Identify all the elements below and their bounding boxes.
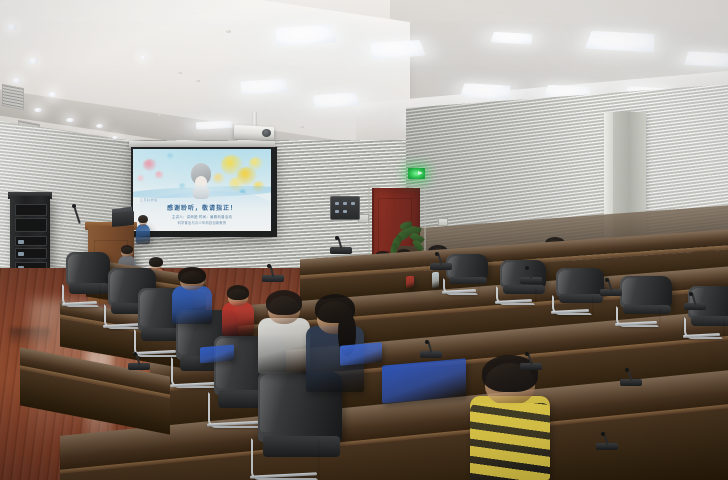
table-microphone-8 <box>520 352 546 370</box>
table-microphone-6 <box>262 264 288 282</box>
ceiling-panel-light <box>460 83 510 99</box>
screen-glare <box>133 149 271 231</box>
chair-highlight <box>558 270 580 294</box>
table-microphone-2 <box>430 252 456 270</box>
chair-highlight <box>140 290 164 326</box>
table-microphone-10 <box>128 352 154 370</box>
chair-right-2[interactable] <box>556 268 604 312</box>
blue-document-tray <box>200 345 234 364</box>
person-attendee-white-shirt-man <box>258 288 310 374</box>
control-led <box>343 202 347 205</box>
control-led <box>343 210 347 213</box>
ceiling-downlight <box>12 78 21 83</box>
blue-folder-large <box>382 358 466 403</box>
microphone-icon <box>425 340 429 344</box>
rack-indicator <box>18 240 24 244</box>
table-microphone-3 <box>520 266 546 284</box>
projection-screen: 江苏科学馆 感谢聆听，敬请指正！ 主讲人：讲师团 时间：暑期科普活动 科学普及与… <box>133 149 271 231</box>
table-microphone-1 <box>330 236 356 254</box>
microphone-icon <box>335 236 339 240</box>
person-attendee-red-shirt-boy <box>222 284 254 336</box>
person-hair <box>227 285 249 300</box>
person-hair <box>121 245 133 254</box>
table-microphone-5 <box>684 292 710 310</box>
ceiling-downlight <box>28 58 38 64</box>
control-led <box>351 202 355 205</box>
microphone-icon <box>605 278 609 282</box>
ceiling-smoke-detector <box>226 30 231 33</box>
control-led <box>335 210 339 213</box>
microphone-icon <box>689 292 693 296</box>
projector-mount <box>252 112 257 127</box>
chair-highlight <box>260 374 298 432</box>
person-attendee-blue-shirt <box>172 266 212 324</box>
ceiling-air-vent <box>2 84 24 110</box>
blue-folder-small <box>340 342 382 366</box>
rack-indicator <box>18 252 24 256</box>
ceiling-panel-light <box>491 32 533 45</box>
microphone-icon <box>625 368 629 372</box>
microphone-icon <box>435 252 439 256</box>
microphone-icon <box>601 432 605 436</box>
microphone-icon <box>133 352 137 356</box>
control-led <box>335 202 339 205</box>
conference-room-photo: 江苏科学馆 感谢聆听，敬请指正！ 主讲人：讲师团 时间：暑期科普活动 科学普及与… <box>0 0 728 480</box>
microphone-icon <box>267 264 271 268</box>
ceiling-downlight <box>6 24 17 30</box>
wall-socket-plate-2 <box>438 218 448 226</box>
person-shading <box>258 333 310 374</box>
microphone-icon <box>525 266 529 270</box>
striped-shirt-pattern <box>470 403 550 480</box>
person-presenter <box>136 214 150 244</box>
person-shading <box>172 296 212 324</box>
table-microphone-4 <box>600 278 626 296</box>
ceiling-downlight <box>96 124 103 128</box>
red-item <box>406 276 414 289</box>
av-control-panel[interactable] <box>330 196 360 220</box>
person-shading <box>136 230 150 244</box>
chair-highlight <box>68 254 88 283</box>
table-microphone-11 <box>596 432 622 450</box>
person-hair <box>266 290 302 315</box>
laptop <box>112 211 134 227</box>
chair-left-1[interactable] <box>66 252 110 304</box>
ceiling-downlight <box>48 92 57 97</box>
rack-unit <box>15 204 47 216</box>
podium-microphone-icon <box>72 204 76 208</box>
table-microphone-7 <box>420 340 446 358</box>
ceiling-panel-light <box>684 51 728 67</box>
rack-unit <box>15 218 47 232</box>
chair-highlight <box>110 270 132 302</box>
person-hair <box>138 215 148 224</box>
exit-sign-icon <box>408 168 425 179</box>
table-microphone-9 <box>620 368 646 386</box>
water-bottle <box>432 272 439 289</box>
person-hair <box>149 257 163 267</box>
microphone-icon <box>525 352 529 356</box>
person-shading <box>222 311 254 336</box>
chair-right-3[interactable] <box>620 276 672 324</box>
person-hair <box>178 267 206 284</box>
